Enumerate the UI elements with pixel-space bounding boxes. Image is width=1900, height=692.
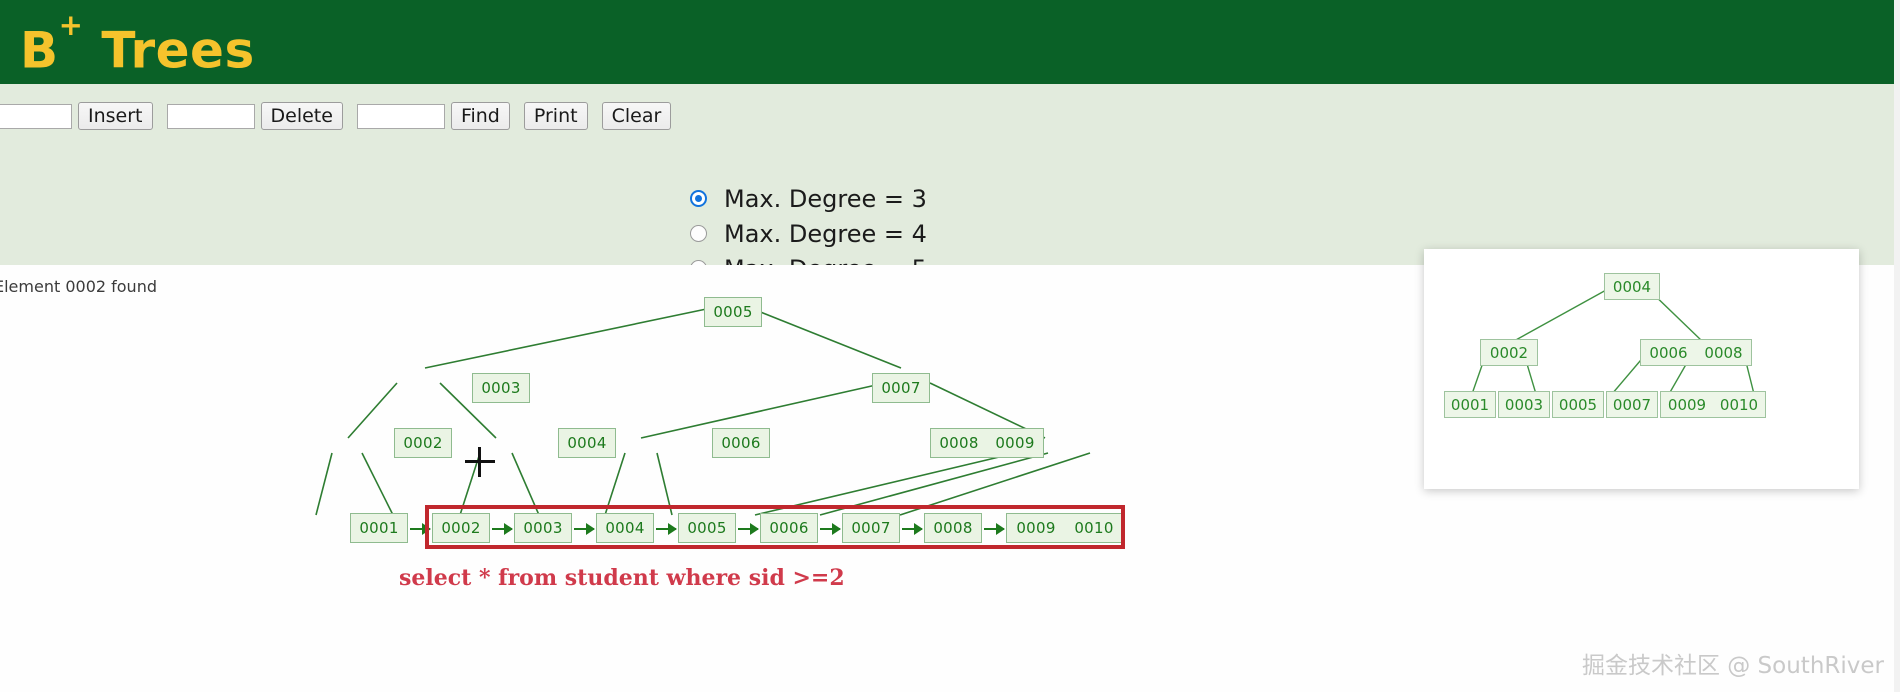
inset-node-root[interactable]: 0004 xyxy=(1604,273,1660,300)
sql-annotation: select * from student where sid >=2 xyxy=(399,565,845,591)
node-key: 0007 xyxy=(881,379,920,397)
inset-leaf-node[interactable]: 0003 xyxy=(1498,391,1550,418)
toolbar-controls-row: Insert Delete Find Print Clear xyxy=(0,101,685,131)
node-key: 0006 xyxy=(721,434,760,452)
app-header: B+ Trees xyxy=(0,0,1900,84)
page-right-edge xyxy=(1894,0,1900,692)
title-main: B xyxy=(20,22,59,80)
range-scan-highlight xyxy=(425,505,1125,549)
node-key: 0009 xyxy=(1668,396,1706,414)
tree-node-internal[interactable]: 0008 0009 xyxy=(930,428,1044,458)
radio-indicator-icon[interactable] xyxy=(690,190,707,207)
mouse-cursor-crosshair-icon xyxy=(465,447,495,477)
tree-node-internal[interactable]: 0006 xyxy=(712,428,770,458)
tree-node-root[interactable]: 0005 xyxy=(704,297,762,327)
radio-label-degree-3: Max. Degree = 3 xyxy=(724,185,927,213)
inset-leaf-node[interactable]: 0001 xyxy=(1444,391,1496,418)
tree-leaf-node[interactable]: 0001 xyxy=(350,513,408,543)
inset-node-internal[interactable]: 0002 xyxy=(1480,339,1538,366)
delete-button[interactable]: Delete xyxy=(261,102,343,130)
node-key: 0009 xyxy=(995,434,1034,452)
node-key: 0010 xyxy=(1720,396,1758,414)
inset-tree-panel[interactable]: 0004 0002 0006 0008 0001 0003 0005 0007 … xyxy=(1424,249,1859,489)
node-key: 0001 xyxy=(359,519,398,537)
radio-option-degree-4[interactable]: Max. Degree = 4 xyxy=(690,216,927,251)
watermark-label: 掘金技术社区 @ SouthRiver xyxy=(1582,646,1884,680)
tree-edges xyxy=(300,285,1500,605)
tree-node-internal[interactable]: 0003 xyxy=(472,373,530,403)
node-key: 0002 xyxy=(1490,344,1528,362)
tree-node-internal[interactable]: 0004 xyxy=(558,428,616,458)
node-key: 0003 xyxy=(1505,396,1543,414)
inset-node-internal[interactable]: 0006 0008 xyxy=(1640,339,1752,366)
tree-node-internal[interactable]: 0007 xyxy=(872,373,930,403)
node-key: 0004 xyxy=(567,434,606,452)
clear-button[interactable]: Clear xyxy=(602,102,672,130)
insert-input[interactable] xyxy=(0,104,72,129)
node-key: 0003 xyxy=(481,379,520,397)
title-rest: Trees xyxy=(83,22,254,80)
node-key: 0004 xyxy=(1613,278,1651,296)
page-title: B+ Trees xyxy=(20,8,255,83)
tree-node-internal[interactable]: 0002 xyxy=(394,428,452,458)
inset-leaf-node[interactable]: 0009 0010 xyxy=(1660,391,1766,418)
find-button[interactable]: Find xyxy=(451,102,510,130)
radio-label-degree-4: Max. Degree = 4 xyxy=(724,220,927,248)
delete-input[interactable] xyxy=(167,104,255,129)
print-button[interactable]: Print xyxy=(524,102,588,130)
inset-leaf-node[interactable]: 0005 xyxy=(1552,391,1604,418)
node-key: 0008 xyxy=(1704,344,1742,362)
radio-option-degree-3[interactable]: Max. Degree = 3 xyxy=(690,181,927,216)
node-key: 0005 xyxy=(1559,396,1597,414)
insert-button[interactable]: Insert xyxy=(78,102,153,130)
node-key: 0008 xyxy=(939,434,978,452)
radio-indicator-icon[interactable] xyxy=(690,225,707,242)
node-key: 0005 xyxy=(713,303,752,321)
node-key: 0006 xyxy=(1649,344,1687,362)
node-key: 0001 xyxy=(1451,396,1489,414)
node-key: 0002 xyxy=(403,434,442,452)
status-message: Element 0002 found xyxy=(0,277,157,296)
control-toolbar: Insert Delete Find Print Clear Max. Degr… xyxy=(0,84,1900,265)
node-key: 0007 xyxy=(1613,396,1651,414)
inset-leaf-node[interactable]: 0007 xyxy=(1606,391,1658,418)
find-input[interactable] xyxy=(357,104,445,129)
title-superscript: + xyxy=(59,8,84,42)
